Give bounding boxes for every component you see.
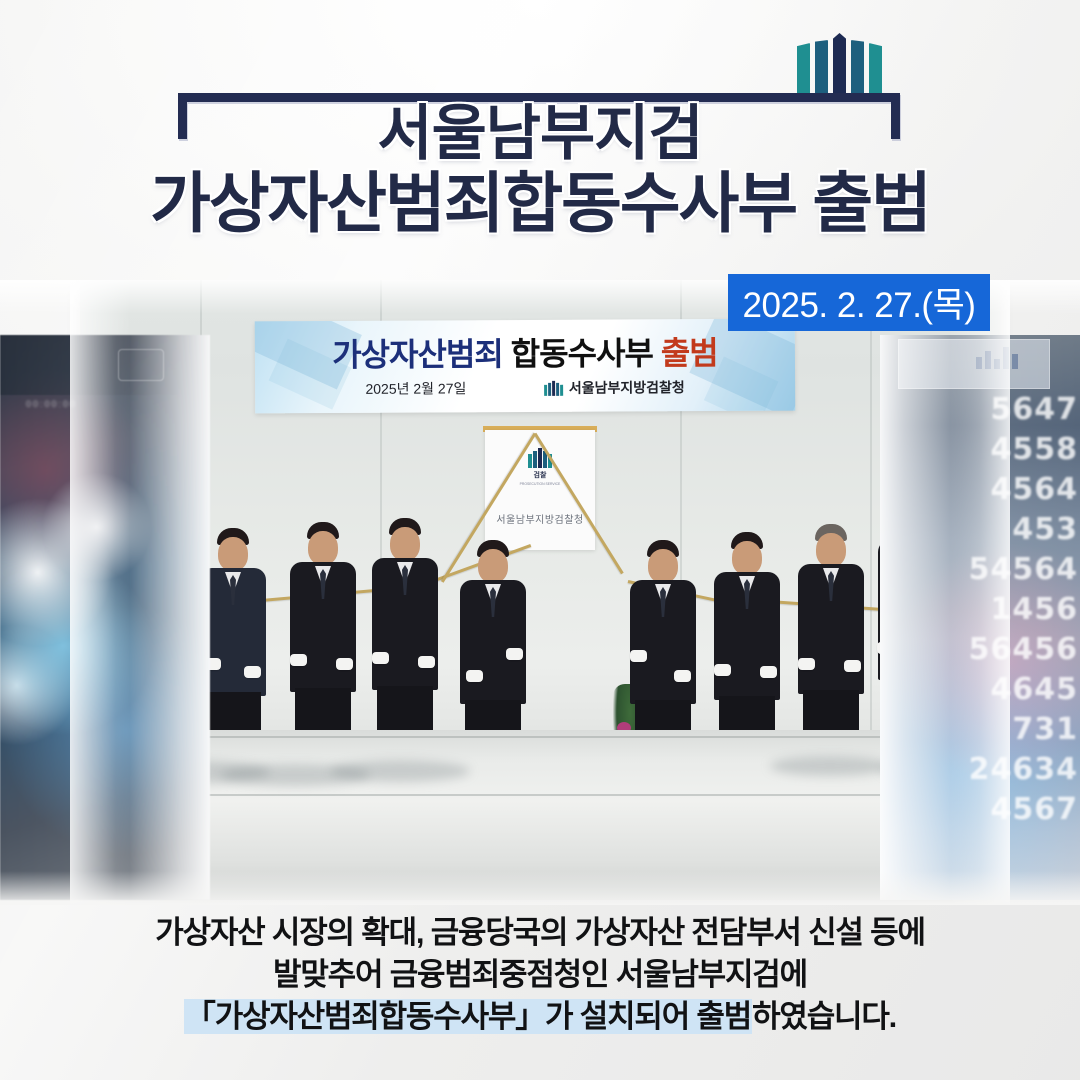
market-number: 731 <box>1012 715 1078 745</box>
digital-market-numbers-panel: 5647 4558 4564 453 54564 1456 56456 4645… <box>880 335 1080 900</box>
logo-bar-2 <box>815 40 828 95</box>
attendee-head <box>478 549 508 583</box>
white-glove <box>244 666 261 678</box>
caption-block: 가상자산 시장의 확대, 금융당국의 가상자산 전담부서 신설 등에 발맞추어 … <box>0 912 1080 1038</box>
banner-title-part3: 출범 <box>661 335 718 371</box>
attendee-head <box>732 541 762 575</box>
plaque-emblem-label: 검찰 <box>534 470 547 480</box>
white-glove <box>336 658 353 670</box>
ceremony-photo: 가상자산범죄 합동수사부 출범 2025년 2월 27일 서울남부지방검찰청 <box>0 280 1080 905</box>
market-number: 4564 <box>991 475 1079 505</box>
white-glove <box>418 656 435 668</box>
market-number: 5647 <box>991 395 1079 425</box>
plaque-emblem-sublabel: PROSECUTION SERVICE <box>520 482 561 486</box>
attendee-tie <box>402 565 408 595</box>
attendee-tie <box>490 587 496 617</box>
attendee-suit <box>460 580 526 704</box>
white-glove <box>798 658 815 670</box>
market-number-list: 5647 4558 4564 453 54564 1456 56456 4645… <box>888 395 1078 825</box>
caption-line-2: 발맞추어 금융범죄중점청인 서울남부지검에 <box>0 954 1080 996</box>
abstract-bokeh-panel: 00:00:00 <box>0 335 210 900</box>
attendee-suit <box>630 580 696 704</box>
logo-bar-5 <box>869 43 882 95</box>
panel-bar-chart <box>976 343 1018 369</box>
attendee-head <box>308 531 338 565</box>
panel-chip <box>118 349 164 381</box>
white-glove <box>372 652 389 664</box>
market-number: 453 <box>1012 515 1078 545</box>
attendee-tie <box>660 587 666 617</box>
banner-org-label: 서울남부지방검찰청 <box>569 377 685 398</box>
banner-title-part1: 가상자산범죄 <box>332 336 503 373</box>
market-number: 4567 <box>991 795 1079 825</box>
banner-title: 가상자산범죄 합동수사부 출범 <box>255 328 795 377</box>
attendee-head <box>816 533 846 567</box>
white-glove <box>844 660 861 672</box>
title-line-2: 가상자산범죄합동수사부 출범 <box>0 170 1080 236</box>
attendee-tie <box>828 571 834 601</box>
attendee-head <box>390 527 420 561</box>
wall-seam <box>870 280 872 800</box>
attendee-suit <box>798 564 864 694</box>
floor-line <box>80 736 1000 738</box>
photo-interior-plate: 가상자산범죄 합동수사부 출범 2025년 2월 27일 서울남부지방검찰청 <box>80 280 1000 900</box>
floor-line <box>80 794 1000 796</box>
panel-left-header <box>0 335 210 395</box>
white-glove <box>290 654 307 666</box>
white-glove <box>466 670 483 682</box>
unveiled-plaque: 검찰 PROSECUTION SERVICE 서울남부지방검찰청 <box>485 430 595 550</box>
market-number: 1456 <box>991 595 1079 625</box>
white-glove <box>674 670 691 682</box>
plaque-emblem: 검찰 PROSECUTION SERVICE <box>485 448 595 486</box>
attendee-head <box>648 549 678 583</box>
white-glove <box>714 664 731 676</box>
attendee-tie <box>230 575 236 605</box>
prosecution-five-bars-icon <box>797 33 889 95</box>
floor-shadow <box>330 760 470 782</box>
market-number: 4645 <box>991 675 1079 705</box>
logo-bar-1 <box>797 43 810 95</box>
caption-line-1: 가상자산 시장의 확대, 금융당국의 가상자산 전담부서 신설 등에 <box>0 912 1080 954</box>
announcement-card: 서울남부지검 가상자산범죄합동수사부 출범 2025. 2. 27.(목) 가상… <box>0 0 1080 1080</box>
logo-bar-4 <box>851 40 864 95</box>
white-glove <box>760 666 777 678</box>
attendee-suit <box>372 558 438 690</box>
banner-title-part2: 합동수사부 <box>511 335 653 372</box>
attendee-tie <box>320 569 326 599</box>
attendee-tie <box>744 579 750 609</box>
white-glove <box>630 650 647 662</box>
prosecution-five-bars-icon <box>544 380 563 395</box>
attendee-suit <box>290 562 356 692</box>
caption-line-3-tail: 하였습니다. <box>752 999 896 1034</box>
white-glove <box>506 648 523 660</box>
banner-org: 서울남부지방검찰청 <box>544 377 685 398</box>
attendee-head <box>218 537 248 571</box>
photo-floor <box>80 730 1000 900</box>
panel-screen <box>898 339 1050 389</box>
attendee-suit <box>714 572 780 700</box>
page-title: 서울남부지검 가상자산범죄합동수사부 출범 <box>0 104 1080 236</box>
banner-subline: 2025년 2월 27일 서울남부지방검찰청 <box>255 377 795 400</box>
logo-bar-3 <box>833 33 846 95</box>
caption-line-3: 「가상자산범죄합동수사부」가 설치되어 출범하였습니다. <box>0 996 1080 1038</box>
floor-shadow <box>770 756 890 776</box>
panel-ticker-text: 00:00:00 <box>26 399 77 409</box>
market-number: 54564 <box>969 555 1078 585</box>
banner-date: 2025년 2월 27일 <box>365 378 466 399</box>
ceremony-banner: 가상자산범죄 합동수사부 출범 2025년 2월 27일 서울남부지방검찰청 <box>255 319 795 414</box>
market-number: 4558 <box>991 435 1079 465</box>
market-number: 24634 <box>969 755 1078 785</box>
caption-highlight: 「가상자산범죄합동수사부」가 설치되어 출범 <box>184 999 752 1034</box>
date-badge: 2025. 2. 27.(목) <box>728 274 990 331</box>
plaque-name: 서울남부지방검찰청 <box>485 511 595 526</box>
title-line-1: 서울남부지검 <box>0 104 1080 164</box>
market-number: 56456 <box>969 635 1078 665</box>
